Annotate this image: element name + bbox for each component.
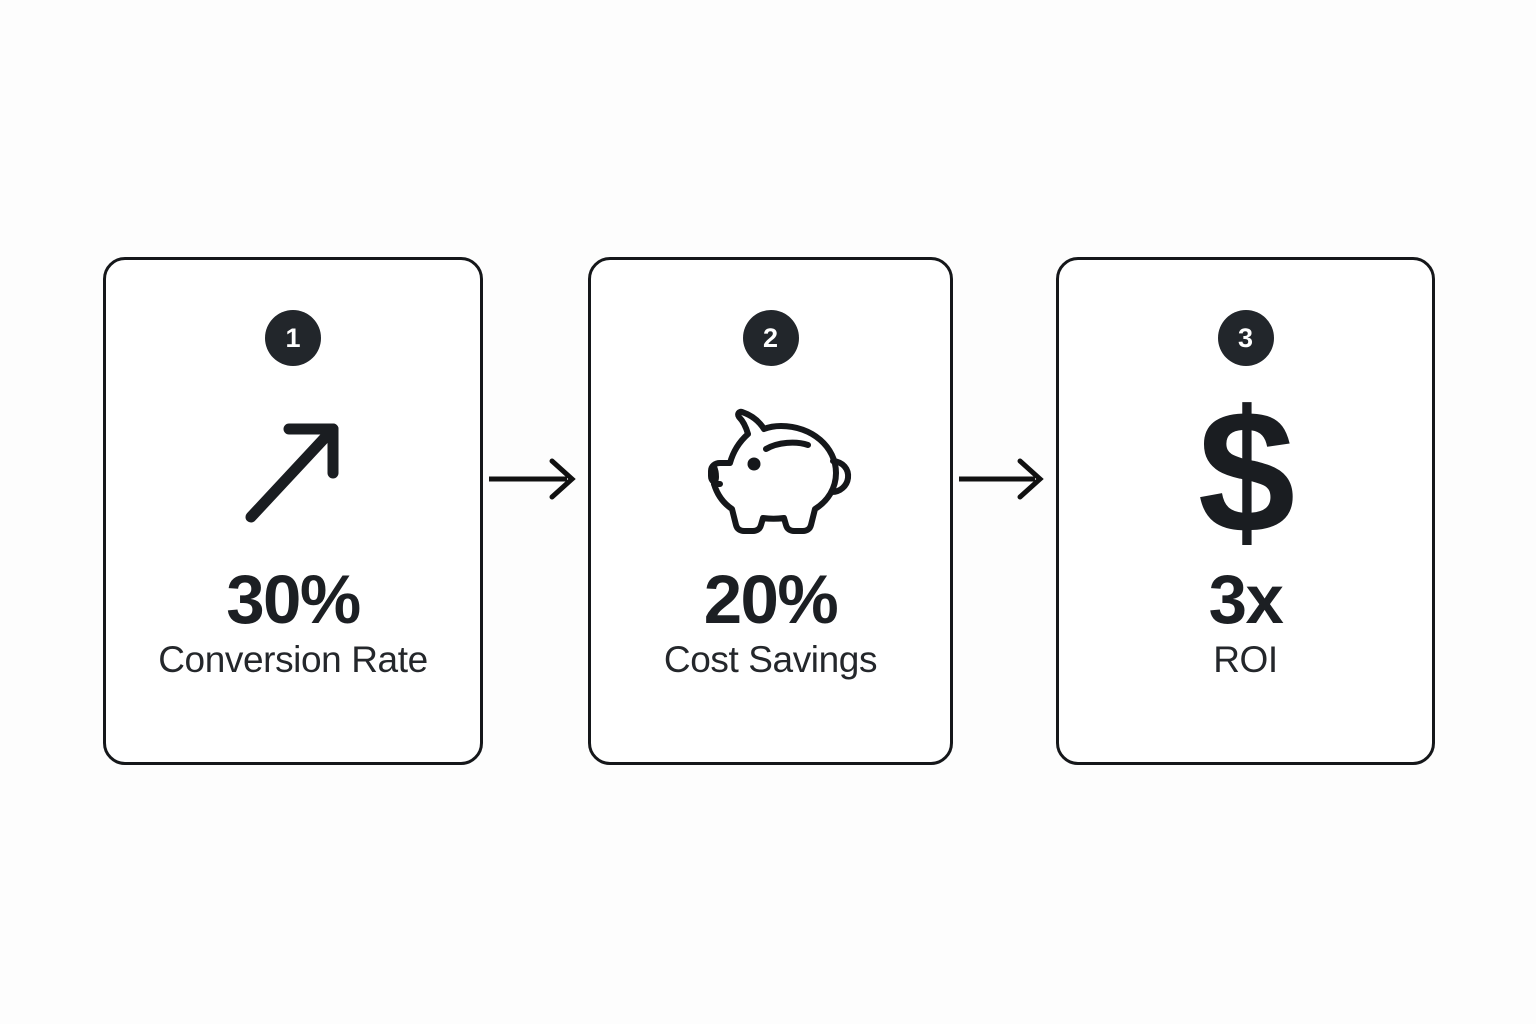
metric-text-block-2: 20% Cost Savings: [591, 565, 950, 682]
metric-text-block-3: 3x ROI: [1059, 565, 1432, 682]
metric-card-2[interactable]: 2 20% Cost Savings: [588, 257, 953, 765]
metric-value-2: 20%: [601, 565, 940, 635]
piggy-bank-icon: [591, 405, 950, 540]
step-badge-2: 2: [743, 310, 799, 366]
metric-label-3: ROI: [1069, 639, 1422, 682]
connector-arrow-2: [959, 455, 1051, 503]
diagram-canvas: 1 30% Conversion Rate 2: [0, 0, 1536, 1024]
dollar-sign-icon: $: [1059, 405, 1432, 540]
step-badge-3: 3: [1218, 310, 1274, 366]
metric-card-1[interactable]: 1 30% Conversion Rate: [103, 257, 483, 765]
metric-label-1: Conversion Rate: [116, 639, 470, 682]
metric-card-3[interactable]: 3 $ 3x ROI: [1056, 257, 1435, 765]
metric-text-block-1: 30% Conversion Rate: [106, 565, 480, 682]
trending-up-arrow-icon: [106, 405, 480, 540]
step-badge-1: 1: [265, 310, 321, 366]
metric-value-1: 30%: [116, 565, 470, 635]
metric-value-3: 3x: [1069, 565, 1422, 635]
dollar-sign-glyph: $: [1198, 405, 1293, 540]
connector-arrow-1: [489, 455, 583, 503]
metric-label-2: Cost Savings: [601, 639, 940, 682]
